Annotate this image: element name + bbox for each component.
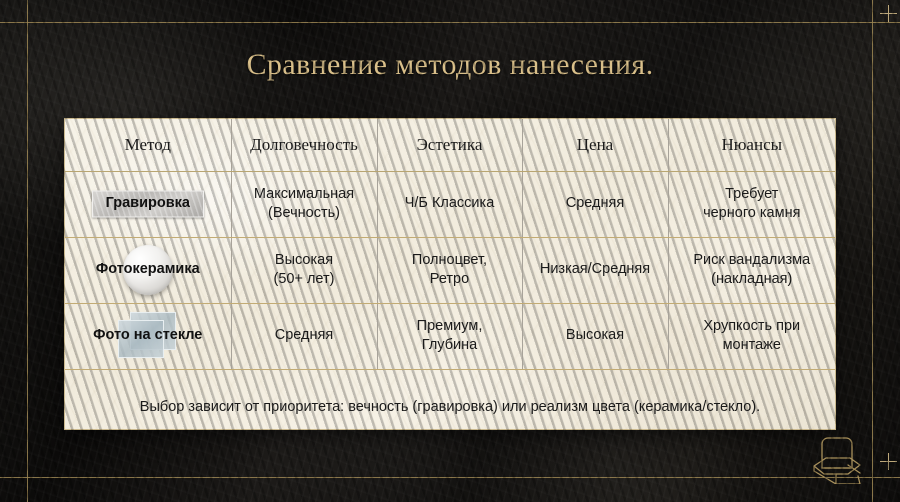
cell-line-2: (накладная) — [677, 270, 828, 289]
table-row: Фотокерамика Высокая (50+ лет) Полноцвет… — [65, 237, 835, 303]
page-title: Сравнение методов нанесения. — [0, 48, 900, 82]
table-footer-note: Выбор зависит от приоритета: вечность (г… — [65, 385, 835, 429]
comparison-table: Метод Долговечность Эстетика Цена Нюансы… — [65, 119, 835, 370]
column-header-notes: Нюансы — [668, 119, 835, 171]
method-label: Фото на стекле — [93, 326, 202, 345]
cell-line-1: Высокая — [240, 251, 369, 270]
cell-line-2: черного камня — [677, 204, 828, 223]
cell-line-1: Хрупкость при — [677, 317, 828, 336]
column-header-price: Цена — [522, 119, 668, 171]
cell-line-1: Максимальная — [240, 185, 369, 204]
method-badge-photo-on-glass: Фото на стекле — [93, 315, 202, 357]
cell-line-2: Ретро — [386, 270, 514, 289]
comparison-panel: Метод Долговечность Эстетика Цена Нюансы… — [64, 118, 836, 430]
cell-price: Средняя — [522, 171, 668, 237]
cell-aesthetics: Полноцвет, Ретро — [377, 237, 522, 303]
cell-method-photo-on-glass: Фото на стекле — [65, 303, 231, 369]
cell-notes: Хрупкость при монтаже — [668, 303, 835, 369]
cell-line-2: (Вечность) — [240, 204, 369, 223]
column-header-aesthetics: Эстетика — [377, 119, 522, 171]
method-badge-photoceramic: Фотокерамика — [96, 249, 200, 291]
method-label: Гравировка — [106, 194, 190, 213]
slide-canvas: Сравнение методов нанесения. Метод Долго… — [0, 0, 900, 502]
cell-line-2: Глубина — [386, 336, 514, 355]
column-header-durability: Долговечность — [231, 119, 377, 171]
cell-line-1: Полноцвет, — [386, 251, 514, 270]
cell-price: Низкая/Средняя — [522, 237, 668, 303]
cell-method-photoceramic: Фотокерамика — [65, 237, 231, 303]
cell-line-1: Риск вандализма — [677, 251, 828, 270]
frame-line-bottom — [0, 477, 900, 478]
table-row: Гравировка Максимальная (Вечность) Ч/Б К… — [65, 171, 835, 237]
table-header-row: Метод Долговечность Эстетика Цена Нюансы — [65, 119, 835, 171]
cell-line-1: Премиум, — [386, 317, 514, 336]
cell-durability: Максимальная (Вечность) — [231, 171, 377, 237]
cell-line-1: Средняя — [240, 326, 369, 345]
monument-icon — [806, 432, 872, 489]
cell-line-1: Требует — [677, 185, 828, 204]
cell-aesthetics: Премиум, Глубина — [377, 303, 522, 369]
cell-notes: Требует черного камня — [668, 171, 835, 237]
cell-durability: Средняя — [231, 303, 377, 369]
method-badge-engraving: Гравировка — [106, 183, 190, 225]
column-header-method: Метод — [65, 119, 231, 171]
method-label: Фотокерамика — [96, 260, 200, 279]
cell-method-engraving: Гравировка — [65, 171, 231, 237]
corner-plus-icon-top-right — [880, 5, 897, 22]
table-body: Гравировка Максимальная (Вечность) Ч/Б К… — [65, 171, 835, 369]
cell-durability: Высокая (50+ лет) — [231, 237, 377, 303]
cell-line-2: монтаже — [677, 336, 828, 355]
cell-notes: Риск вандализма (накладная) — [668, 237, 835, 303]
corner-plus-icon-bottom-right — [880, 453, 897, 470]
cell-price: Высокая — [522, 303, 668, 369]
table-header: Метод Долговечность Эстетика Цена Нюансы — [65, 119, 835, 171]
cell-line-1: Ч/Б Классика — [386, 194, 514, 213]
cell-line-2: (50+ лет) — [240, 270, 369, 289]
frame-line-top — [0, 22, 900, 23]
cell-aesthetics: Ч/Б Классика — [377, 171, 522, 237]
table-row: Фото на стекле Средняя Премиум, Глубина … — [65, 303, 835, 369]
